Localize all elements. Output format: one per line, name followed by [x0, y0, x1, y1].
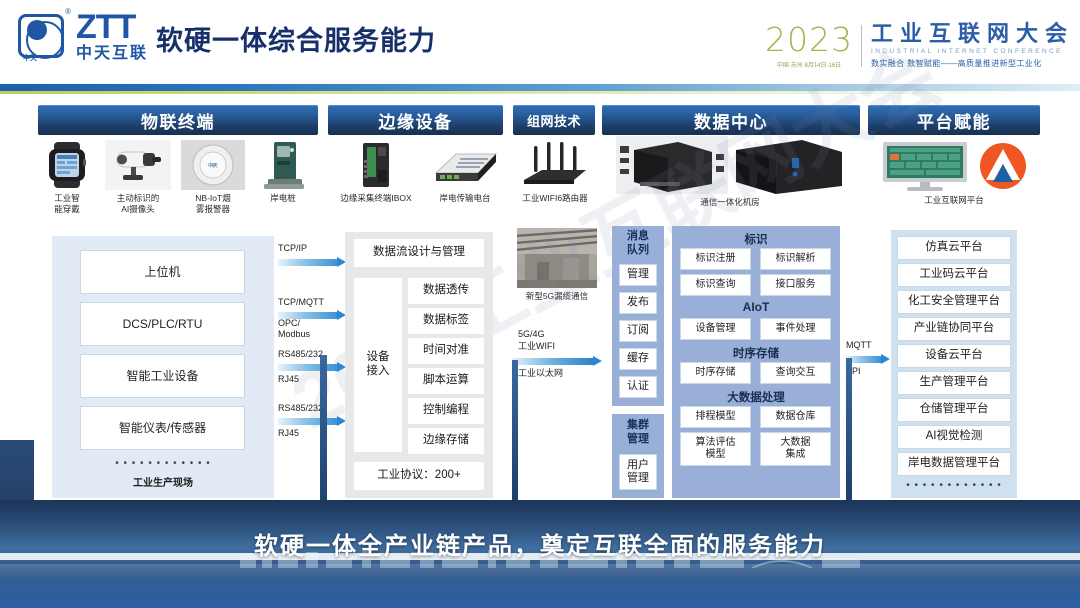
device-industrial-internet-platform: 工业互联网平台 — [876, 140, 1032, 206]
platform-item-1[interactable]: 工业码云平台 — [897, 263, 1011, 287]
platform-api-label-mqtt: MQTT — [846, 340, 872, 351]
page-title: 软硬一体综合服务能力 — [156, 19, 436, 58]
column-header-iot-terminal[interactable]: 物联终端 — [38, 105, 318, 135]
platform-item-8[interactable]: 岸电数据管理平台 — [897, 452, 1011, 476]
cluster-item-0[interactable]: 用户 管理 — [619, 454, 657, 490]
protocol-label-rs485-2: RS485/232 — [278, 403, 323, 414]
device-ai-camera: 主动标识的 AI摄像头 — [102, 140, 174, 214]
column-header-data-center[interactable]: 数据中心 — [602, 105, 860, 135]
ai-camera-icon — [105, 140, 171, 190]
edge-feature-0[interactable]: 数据透传 — [408, 278, 484, 304]
platform-vertical-bar — [846, 358, 852, 503]
edge-feature-5[interactable]: 边缘存储 — [408, 428, 484, 454]
platform-item-2[interactable]: 化工安全管理平台 — [897, 290, 1011, 314]
header-rule-green — [0, 91, 1080, 94]
field-item-1[interactable]: DCS/PLC/RTU — [80, 302, 245, 346]
conference-year: 2023 — [765, 23, 853, 56]
device-5g-leaky-cable: 新型5G漏缆通信 — [512, 228, 602, 302]
platform-item-7[interactable]: AI视觉检测 — [897, 425, 1011, 449]
edge-top-box[interactable]: 数据流设计与管理 — [354, 239, 484, 267]
platform-item-6[interactable]: 仓储管理平台 — [897, 398, 1011, 422]
cluster-title: 集群 管理 — [612, 419, 664, 447]
device-label: 工业智 能穿戴 — [36, 193, 98, 214]
edge-feature-3[interactable]: 脚本运算 — [408, 368, 484, 394]
dc-bigdata-integration[interactable]: 大数据 集成 — [760, 432, 831, 466]
queue-item-0[interactable]: 管理 — [619, 264, 657, 286]
device-label: 工业WIFI6路由器 — [512, 193, 598, 204]
registered-icon: ® — [65, 7, 71, 16]
protocol-label-tcpmqtt: TCP/MQTT — [278, 297, 324, 308]
shore-power-radio-icon — [428, 140, 502, 190]
edge-feature-2[interactable]: 时间对准 — [408, 338, 484, 364]
cluster-panel: 集群 管理 用户 管理 — [612, 414, 664, 498]
conference-slogan: 数实融合 数智赋能——高质量推进新型工业化 — [871, 58, 1074, 69]
device-label: 通信一体化机房 — [606, 197, 854, 208]
monitor-icon — [881, 140, 969, 192]
device-label: 工业互联网平台 — [876, 195, 1032, 206]
logo-mark-cn: 中天 — [23, 53, 37, 63]
platform-item-5[interactable]: 生产管理平台 — [897, 371, 1011, 395]
leaky-cable-icon — [517, 228, 597, 288]
shore-power-pile-icon — [261, 140, 305, 190]
comm-room-icon — [616, 136, 844, 194]
protocol-vertical-bar — [320, 355, 327, 515]
device-label: 主动标识的 AI摄像头 — [102, 193, 174, 214]
protocol-arrow-4 — [278, 417, 346, 426]
device-label: 岸电传输电台 — [424, 193, 506, 204]
queue-item-4[interactable]: 认证 — [619, 376, 657, 398]
device-industrial-wifi6-router: 工业WIFI6路由器 — [512, 140, 598, 204]
device-label: 边缘采集终端IBOX — [330, 193, 422, 204]
conference-name-cn: 工业互联网大会 — [871, 22, 1074, 45]
device-edge-gateway-ibox: 边缘采集终端IBOX — [330, 140, 422, 204]
dc-data-warehouse[interactable]: 数据仓库 — [760, 406, 831, 428]
platform-item-3[interactable]: 产业链协同平台 — [897, 317, 1011, 341]
column-header-edge-device[interactable]: 边缘设备 — [328, 105, 503, 135]
platform-item-0[interactable]: 仿真云平台 — [897, 236, 1011, 260]
edge-feature-4[interactable]: 控制编程 — [408, 398, 484, 424]
dc-schedule-model[interactable]: 排程模型 — [680, 406, 751, 428]
conference-date: 中国·苏州 8月14日-16日 — [777, 60, 841, 69]
field-item-0[interactable]: 上位机 — [80, 250, 245, 294]
platform-panel: 仿真云平台 工业码云平台 化工安全管理平台 产业链协同平台 设备云平台 生产管理… — [891, 230, 1017, 498]
datacenter-section-title-1: AIoT — [672, 300, 840, 314]
datacenter-section-title-0: 标识 — [672, 231, 840, 247]
dc-id-register[interactable]: 标识注册 — [680, 248, 751, 270]
message-queue-title: 消息 队列 — [612, 230, 664, 258]
header-rule-blue — [0, 84, 1080, 91]
datacenter-section-title-3: 大数据处理 — [672, 389, 840, 405]
field-dots: • • • • • • • • • • • • — [52, 458, 274, 469]
device-industrial-smart-wearable: 工业智 能穿戴 — [36, 140, 98, 214]
queue-item-3[interactable]: 缓存 — [619, 348, 657, 370]
protocol-label-tcpip: TCP/IP — [278, 243, 307, 254]
device-nb-iot-smoke-alarm: 中天 NB-IoT烟 雾报警器 — [178, 140, 248, 214]
bottom-banner: 软硬一体全产业链产品，奠定互联全面的服务能力 — [0, 500, 1080, 608]
device-label: NB-IoT烟 雾报警器 — [178, 193, 248, 214]
slide-root: 中天 ® ZTT 中天互联 软硬一体综合服务能力 2023 中国·苏州 8月14… — [0, 0, 1080, 608]
network-label-ethernet: 工业以太网 — [518, 368, 563, 379]
field-panel: 上位机 DCS/PLC/RTU 智能工业设备 智能仪表/传感器 • • • • … — [52, 236, 274, 498]
dc-id-resolve[interactable]: 标识解析 — [760, 248, 831, 270]
edge-gateway-icon — [352, 140, 400, 190]
field-caption: 工业生产现场 — [52, 474, 274, 489]
smart-wearable-icon — [41, 140, 93, 190]
platform-dots: • • • • • • • • • • • • — [891, 480, 1017, 491]
device-shore-power-pile: 岸电桩 — [252, 140, 314, 204]
datacenter-section-title-2: 时序存储 — [672, 345, 840, 361]
protocol-label-rj45-2: RJ45 — [278, 428, 299, 439]
slide-header: 中天 ® ZTT 中天互联 软硬一体综合服务能力 2023 中国·苏州 8月14… — [0, 0, 1080, 84]
dc-algo-eval-model[interactable]: 算法评估 模型 — [680, 432, 751, 466]
edge-access-box[interactable]: 设备 接入 — [354, 278, 402, 452]
field-item-2[interactable]: 智能工业设备 — [80, 354, 245, 398]
smoke-alarm-icon: 中天 — [181, 140, 245, 190]
dc-id-query[interactable]: 标识查询 — [680, 274, 751, 296]
logo-brand-cn: 中天互联 — [76, 46, 148, 62]
banner-water — [0, 564, 1080, 608]
queue-item-1[interactable]: 发布 — [619, 292, 657, 314]
dc-event-proc[interactable]: 事件处理 — [760, 318, 831, 340]
banner-headline: 软硬一体全产业链产品，奠定互联全面的服务能力 — [0, 526, 1080, 561]
ztt-logo: 中天 ® ZTT 中天互联 — [14, 8, 148, 64]
platform-logo-icon — [979, 142, 1027, 190]
device-label: 新型5G漏缆通信 — [512, 291, 602, 302]
wifi6-router-icon — [518, 140, 592, 190]
dc-api-service[interactable]: 接口服务 — [760, 274, 831, 296]
queue-item-2[interactable]: 订阅 — [619, 320, 657, 342]
column-header-network-tech[interactable]: 组网技术 — [513, 105, 595, 135]
message-queue-panel: 消息 队列 管理 发布 订阅 缓存 认证 — [612, 226, 664, 406]
protocol-label-rs485-1: RS485/232 — [278, 349, 323, 360]
protocol-arrow-2 — [278, 311, 346, 320]
platform-item-4[interactable]: 设备云平台 — [897, 344, 1011, 368]
conference-logo: 2023 中国·苏州 8月14日-16日 工业互联网大会 INDUSTRIAL … — [765, 22, 1074, 69]
device-integrated-comm-room: 通信一体化机房 — [606, 136, 854, 208]
column-header-platform-enable[interactable]: 平台赋能 — [868, 105, 1040, 135]
network-vertical-bar — [512, 360, 518, 500]
ztt-logo-mark-icon: 中天 ® — [14, 8, 70, 64]
protocol-arrow-1 — [278, 258, 346, 267]
platform-arrow — [846, 355, 890, 364]
edge-bottom-box[interactable]: 工业协议：200+ — [354, 462, 484, 490]
dc-device-mgmt[interactable]: 设备管理 — [680, 318, 751, 340]
edge-panel: 数据流设计与管理 设备 接入 数据透传 数据标签 时间对准 脚本运算 控制编程 … — [345, 232, 493, 498]
device-shore-power-radio: 岸电传输电台 — [424, 140, 506, 204]
dc-ts-query[interactable]: 查询交互 — [760, 362, 831, 384]
network-label-5g-wifi: 5G/4G 工业WIFI — [518, 328, 555, 352]
protocol-arrow-3 — [278, 363, 346, 372]
edge-feature-1[interactable]: 数据标签 — [408, 308, 484, 334]
datacenter-panel: 标识 标识注册 标识解析 标识查询 接口服务 AIoT 设备管理 事件处理 时序… — [672, 226, 840, 498]
device-label: 岸电桩 — [252, 193, 314, 204]
logo-brand-en: ZTT — [76, 10, 148, 44]
protocol-label-opc-modbus: OPC/ Modbus — [278, 318, 310, 341]
dc-ts-store[interactable]: 时序存储 — [680, 362, 751, 384]
network-arrow — [512, 357, 602, 366]
field-item-3[interactable]: 智能仪表/传感器 — [80, 406, 245, 450]
protocol-label-rj45-1: RJ45 — [278, 374, 299, 385]
conference-name-en: INDUSTRIAL INTERNET CONFERENCE — [871, 48, 1074, 55]
